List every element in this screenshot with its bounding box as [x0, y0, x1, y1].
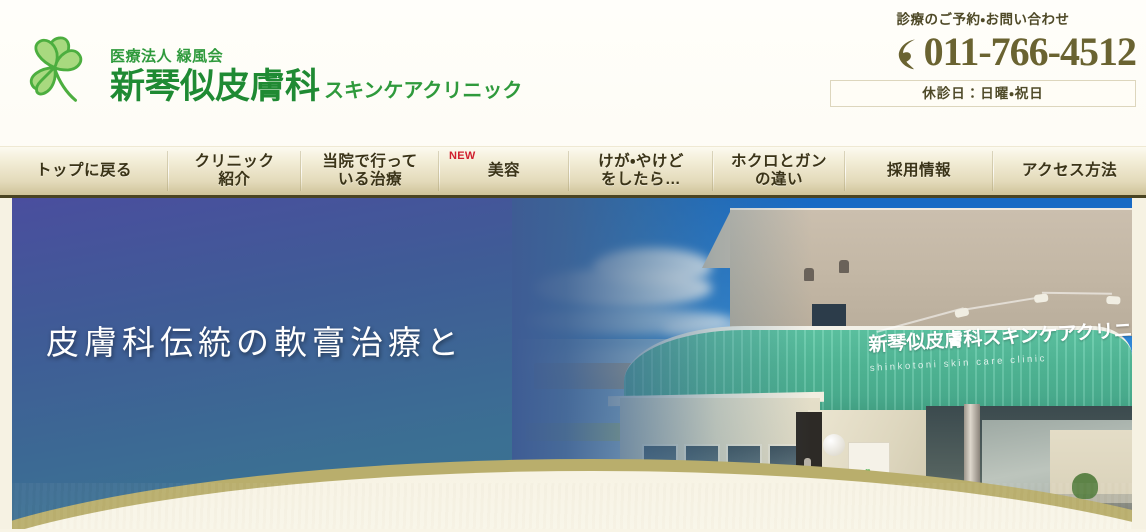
nav-label-line-1: アクセス方法 — [1022, 162, 1117, 180]
nav-label-line-2: いる治療 — [338, 171, 402, 189]
nav-label-line-1: 採用情報 — [887, 162, 951, 180]
nav-label-line-2: をしたら… — [601, 171, 681, 189]
site-header: 医療法人 緑風会 新琴似皮膚科 スキンケアクリニック 診療のご予約・お問い合わせ… — [0, 0, 1146, 146]
nav-label-line-1: トップに戻る — [36, 162, 132, 180]
brand-block[interactable]: 医療法人 緑風会 新琴似皮膚科 スキンケアクリニック — [14, 26, 522, 110]
phone-row[interactable]: 011-766-4512 — [830, 30, 1136, 74]
nav-item-recruit[interactable]: 採用情報 — [845, 147, 993, 195]
sign-spotlight-icon — [1106, 296, 1120, 305]
contact-label: 診療のご予約・お問い合わせ — [830, 12, 1136, 28]
clinic-name-subtitle: スキンケアクリニック — [324, 74, 522, 103]
nav-item-beauty[interactable]: NEW 美容 — [439, 147, 569, 195]
nav-label-line-1: ホクロとガン — [731, 153, 827, 171]
closed-days-box: 休診日：日曜・祝日 — [830, 80, 1136, 107]
nav-item-clinic-intro[interactable]: クリニック 紹介 — [168, 147, 301, 195]
nav-item-top[interactable]: トップに戻る — [0, 147, 168, 195]
nav-item-injury[interactable]: けが・やけど をしたら… — [569, 147, 713, 195]
hero-headline: 皮膚科伝統の軟膏治療と — [46, 316, 464, 364]
nav-label-line-1: 美容 — [488, 162, 520, 180]
swoosh-texture — [12, 483, 1132, 529]
four-leaf-clover-icon — [14, 28, 100, 112]
nav-label-line-1: 当院で行って — [322, 153, 417, 171]
hero-inner: 新琴似皮膚科スキンケアクリニック shinkotoni skin care cl… — [12, 198, 1132, 529]
clinic-name-row: 新琴似皮膚科 スキンケアクリニック — [110, 69, 522, 106]
round-lamp-icon — [823, 434, 845, 456]
nav-item-access[interactable]: アクセス方法 — [993, 147, 1146, 195]
contact-block: 診療のご予約・お問い合わせ 011-766-4512 休診日：日曜・祝日 — [830, 12, 1136, 107]
nav-label-line-1: けが・やけど — [598, 153, 684, 171]
nav-label-line-2: の違い — [755, 171, 803, 189]
nav-item-treatments[interactable]: 当院で行って いる治療 — [301, 147, 439, 195]
nav-label-line-2: 紹介 — [218, 171, 250, 189]
corporation-name: 医療法人 緑風会 — [110, 49, 522, 66]
nav-label-line-1: クリニック — [194, 153, 274, 171]
brand-text: 医療法人 緑風会 新琴似皮膚科 スキンケアクリニック — [110, 49, 522, 110]
clinic-name: 新琴似皮膚科 — [110, 69, 320, 106]
hero-banner: 新琴似皮膚科スキンケアクリニック shinkotoni skin care cl… — [0, 198, 1146, 529]
new-badge: NEW — [449, 150, 476, 163]
main-navigation: トップに戻る クリニック 紹介 当院で行って いる治療 NEW 美容 けが・やけ… — [0, 146, 1146, 198]
telephone-handset-icon — [896, 37, 922, 71]
wall-lamp-icon — [839, 260, 849, 273]
nav-item-mole-vs-cancer[interactable]: ホクロとガン の違い — [713, 147, 845, 195]
page-root: 医療法人 緑風会 新琴似皮膚科 スキンケアクリニック 診療のご予約・お問い合わせ… — [0, 0, 1146, 532]
phone-number[interactable]: 011-766-4512 — [924, 32, 1136, 72]
